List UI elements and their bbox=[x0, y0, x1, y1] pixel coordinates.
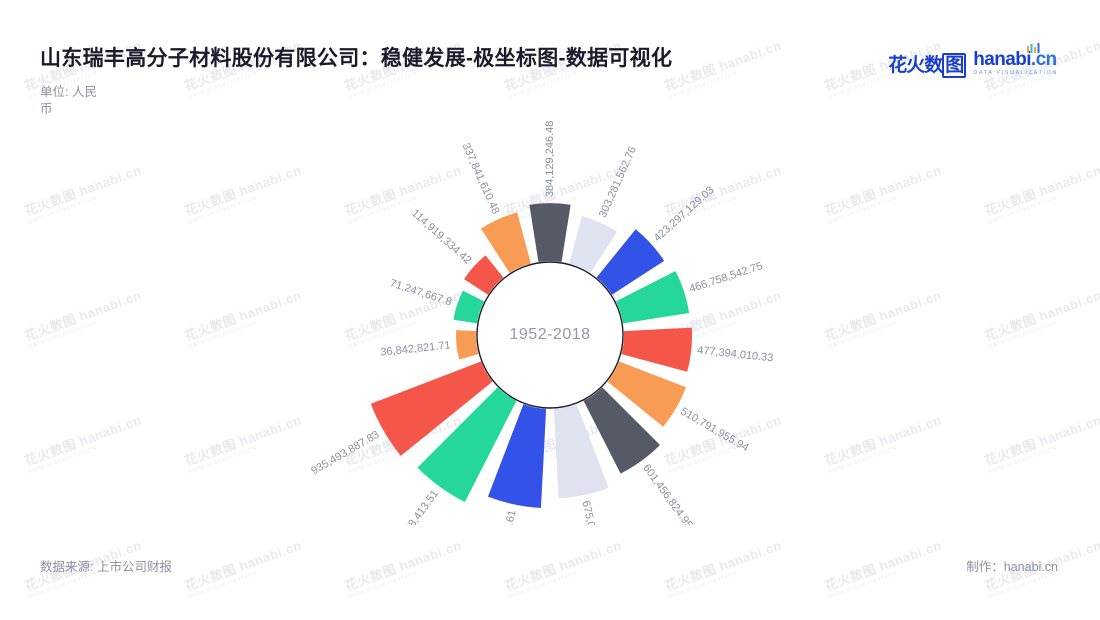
watermark-tile: 花火数图 hanabi.cnDATA VISUALIZATION bbox=[181, 535, 305, 601]
sparkle-icon bbox=[1026, 43, 1042, 53]
unit-label: 单位: 人民币 bbox=[40, 84, 100, 118]
logo-chinese: 花火数图 bbox=[888, 50, 966, 77]
bar-value-label: 466,758,542.75 bbox=[688, 260, 764, 295]
bar-value-label: 303,281,562.76 bbox=[597, 145, 639, 220]
bar-value-label: 935,493,887.83 bbox=[309, 429, 381, 478]
bar-value-label: 675,027,319.5 bbox=[579, 500, 605, 525]
logo-english: hanabi.cn DATA VISUALIZATION bbox=[973, 50, 1058, 77]
bar-value-label: 423,297,129.03 bbox=[652, 184, 717, 244]
watermark-tile: 花火数图 hanabi.cnDATA VISUALIZATION bbox=[341, 535, 465, 601]
logo-cn-boxed: 图 bbox=[942, 53, 966, 78]
bar-value-label: 894,038,413.51 bbox=[386, 488, 441, 525]
watermark-tile: 花火数图 hanabi.cnDATA VISUALIZATION bbox=[821, 535, 945, 601]
watermark-tile: 花火数图 hanabi.cnDATA VISUALIZATION bbox=[501, 535, 625, 601]
page-title: 山东瑞丰高分子材料股份有限公司：稳健发展-极坐标图-数据可视化 bbox=[40, 42, 672, 72]
watermark-tile: 花火数图 hanabi.cnDATA VISUALIZATION bbox=[661, 35, 785, 101]
bar-value-label: 477,394,010.33 bbox=[697, 344, 774, 364]
logo-en-word: hanabi bbox=[973, 49, 1031, 70]
bar-value-label: 337,841,610.48 bbox=[459, 141, 501, 216]
polar-bar[interactable] bbox=[621, 328, 692, 372]
bar-value-label: 762,510,549.61 bbox=[491, 509, 519, 525]
logo-cn-text: 花火数 bbox=[888, 55, 942, 76]
polar-bar[interactable] bbox=[529, 203, 570, 262]
center-range-label: 1952-2018 bbox=[509, 326, 590, 344]
brand-logo: 花火数图 hanabi.cn DATA VISUALIZATION bbox=[888, 50, 1058, 77]
bar-value-label: 384,129,246.48 bbox=[544, 121, 556, 197]
credit-label: 制作：hanabi.cn bbox=[966, 556, 1058, 575]
bar-value-label: 71,247,667.8 bbox=[388, 277, 453, 308]
data-source-label: 数据来源: 上市公司财报 bbox=[40, 556, 172, 575]
polar-bar[interactable] bbox=[456, 330, 479, 359]
bar-value-label: 601,456,824.95 bbox=[640, 462, 695, 525]
polar-bar-chart: 384,129,246.48303,281,562.76423,297,129.… bbox=[0, 95, 1100, 525]
bar-value-label: 510,791,955.94 bbox=[678, 406, 750, 455]
bar-value-label: 36,842,821.71 bbox=[380, 339, 451, 358]
logo-en-main: hanabi.cn bbox=[973, 50, 1058, 69]
logo-en-sub: DATA VISUALIZATION bbox=[973, 71, 1058, 77]
watermark-tile: 花火数图 hanabi.cnDATA VISUALIZATION bbox=[661, 535, 785, 601]
bar-value-label: 114,919,334.42 bbox=[409, 207, 473, 267]
